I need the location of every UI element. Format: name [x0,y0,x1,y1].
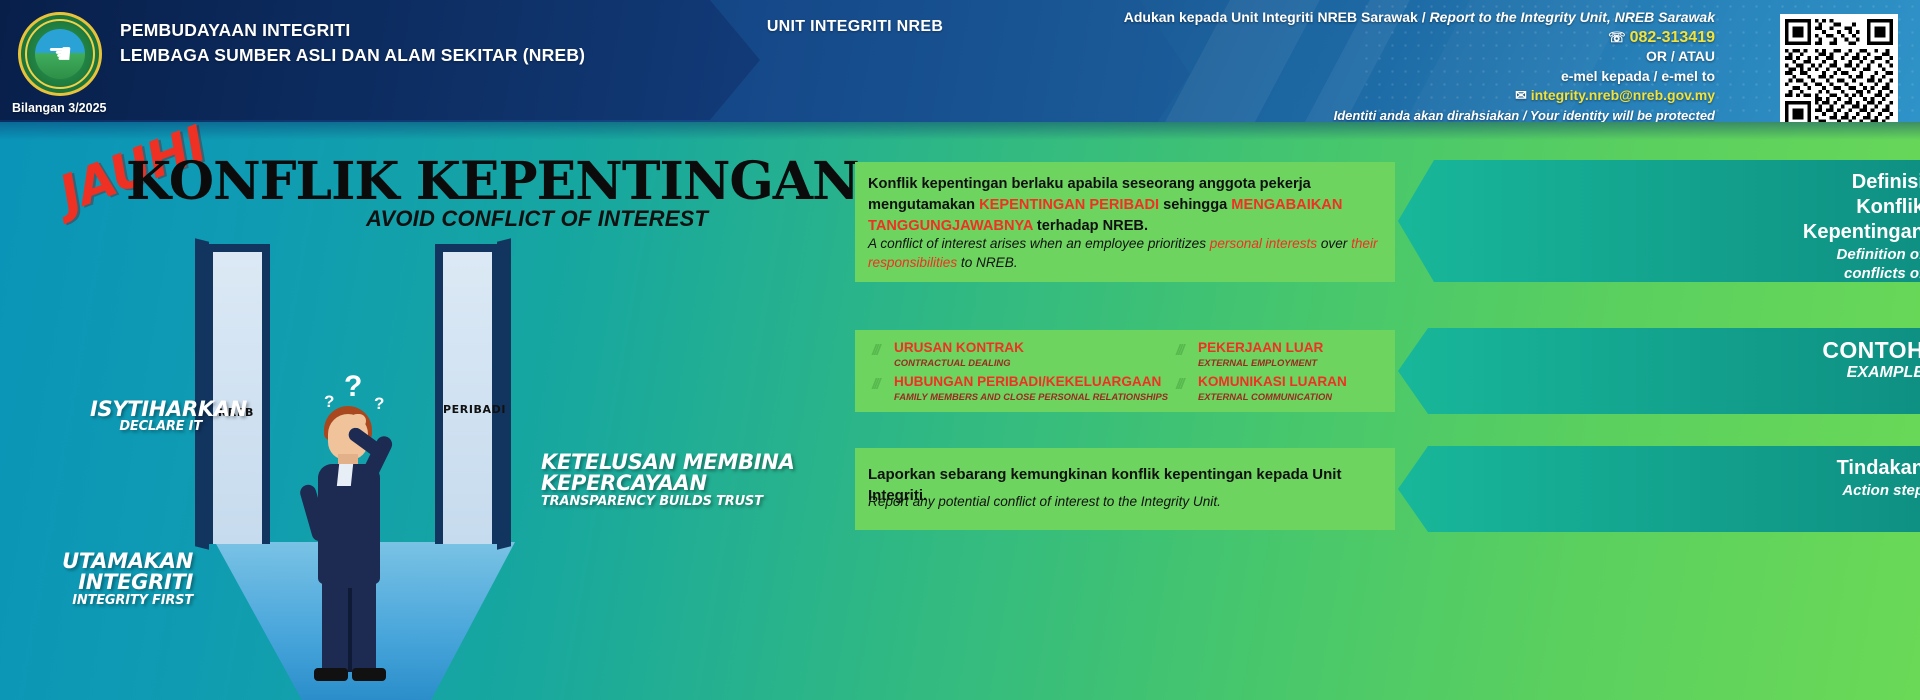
report-label-ms: Adukan kepada Unit Integriti NREB Sarawa… [1124,9,1418,25]
phone-line: ☏ 082-313419 [995,28,1715,48]
tab-definition-en-line2: conflicts of [1450,264,1920,283]
hand-leaf-icon: ☚ [47,40,72,68]
question-mark-large: ? [344,370,362,404]
tab-definition-en-line1: Definition of [1450,245,1920,264]
email-label: e-mel kepada / e-mel to [995,67,1715,87]
example-item-1-ms: URUSAN KONTRAK [894,340,1024,356]
quote-marks-icon: /// [872,342,879,359]
report-separator: / [1422,9,1426,25]
contact-block: Adukan kepada Unit Integriti NREB Sarawa… [995,8,1715,125]
nreb-logo: ☚ [18,12,102,96]
envelope-icon: ✉ [1515,87,1527,103]
caption-trust-en: TRANSPARENCY BUILDS TRUST [541,495,841,508]
logo-emblem: ☚ [35,29,85,79]
definition-body-en: A conflict of interest arises when an em… [868,234,1393,272]
caption-trust-ms-line2: KEPERCAYAAN [541,473,841,494]
tab-action: Tindakan Action step [1398,446,1920,532]
tab-example-en: EXAMPLE [1450,363,1920,382]
definition-ms-highlight1: KEPENTINGAN PERIBADI [979,197,1159,213]
caption-declare-en: DECLARE IT [90,420,202,433]
door-right-label: PERIBADI [443,403,506,416]
person-leg-divider [348,588,352,672]
tab-example-ms: CONTOH [1450,338,1920,363]
organisation-title-line2: LEMBAGA SUMBER ASLI DAN ALAM SEKITAR (NR… [120,43,585,68]
tab-definition-ms-line1: Definisi [1450,170,1920,195]
question-mark-small-left: ? [324,392,334,412]
tab-definition-ms-line2: Konflik [1450,195,1920,220]
qr-code-svg [1785,19,1893,127]
caption-integrity-en: INTEGRITY FIRST [28,594,193,607]
organisation-title-line1: PEMBUDAYAAN INTEGRITI [120,18,585,43]
quote-marks-icon: /// [1176,342,1183,359]
tab-definition: Definisi Konflik Kepentingan Definition … [1398,160,1920,282]
tab-action-en: Action step [1450,481,1920,500]
definition-en-part3: to NREB. [957,255,1017,270]
caption-trust: KETELUSAN MEMBINA KEPERCAYAAN TRANSPAREN… [541,452,841,508]
person-shirt-collar [337,464,353,486]
caption-trust-ms-line1: KETELUSAN MEMBINA [541,452,841,473]
report-line: Adukan kepada Unit Integriti NREB Sarawa… [995,8,1715,28]
person-left-shoe [314,668,348,681]
infographic-poster: ☚ PEMBUDAYAAN INTEGRITI LEMBAGA SUMBER A… [0,0,1920,700]
definition-en-part2: over [1317,236,1351,251]
example-item-1: /// URUSAN KONTRAK CONTRACTUAL DEALING [894,340,1024,369]
tab-example: CONTOH EXAMPLE [1398,328,1920,414]
report-label-en: Report to the Integrity Unit, NREB Saraw… [1430,9,1715,25]
caption-integrity-ms: UTAMAKAN INTEGRITI [28,551,193,594]
example-item-1-en: CONTRACTUAL DEALING [894,356,1024,369]
tab-definition-ms-line3: Kepentingan [1450,220,1920,245]
example-item-4-ms: KOMUNIKASI LUARAN [1198,374,1347,390]
definition-body-ms: Konflik kepentingan berlaku apabila sese… [868,174,1393,237]
quote-marks-icon: /// [1176,376,1183,393]
person-right-shoe [352,668,386,681]
or-label: OR / ATAU [995,47,1715,67]
example-item-3: /// PEKERJAAN LUAR EXTERNAL EMPLOYMENT [1198,340,1323,369]
caption-declare-ms: ISYTIHARKAN [90,399,202,420]
issue-number: Bilangan 3/2025 [12,101,107,115]
example-item-4: /// KOMUNIKASI LUARAN EXTERNAL COMMUNICA… [1198,374,1347,403]
phone-number[interactable]: 082-313419 [1630,29,1715,46]
question-mark-small-right: ? [374,394,384,414]
example-item-2-ms: HUBUNGAN PERIBADI/KEKELUARGAAN [894,374,1168,390]
door-right-panel [443,252,492,544]
action-body-en: Report any potential conflict of interes… [868,492,1388,511]
illustration: NREB PERIBADI ? ? ? ISYTIHARKAN DEC [0,122,860,700]
quote-marks-icon: /// [872,376,879,393]
qr-code[interactable] [1780,14,1898,132]
organisation-title: PEMBUDAYAAN INTEGRITI LEMBAGA SUMBER ASL… [120,18,585,68]
example-item-2: /// HUBUNGAN PERIBADI/KEKELUARGAAN FAMIL… [894,374,1168,403]
email-address[interactable]: integrity.nreb@nreb.gov.my [1531,87,1715,103]
caption-integrity: UTAMAKAN INTEGRITI INTEGRITY FIRST [28,551,193,607]
example-item-3-ms: PEKERJAAN LUAR [1198,340,1323,356]
person-illustration: ? ? ? [300,392,420,682]
tab-action-ms: Tindakan [1450,456,1920,481]
example-items-grid: /// URUSAN KONTRAK CONTRACTUAL DEALING /… [868,338,1388,406]
person-right-hand [350,414,366,428]
door-right [435,244,500,544]
example-item-2-en: FAMILY MEMBERS AND CLOSE PERSONAL RELATI… [894,390,1168,403]
door-left [205,244,270,544]
email-line: ✉ integrity.nreb@nreb.gov.my [995,86,1715,106]
definition-ms-part3: terhadap NREB. [1033,218,1148,234]
example-item-3-en: EXTERNAL EMPLOYMENT [1198,356,1323,369]
example-item-4-en: EXTERNAL COMMUNICATION [1198,390,1347,403]
phone-icon: ☏ [1608,29,1626,45]
definition-en-highlight1: personal interests [1210,236,1317,251]
caption-declare: ISYTIHARKAN DECLARE IT [90,399,202,434]
definition-ms-part2: sehingga [1159,197,1231,213]
definition-en-part1: A conflict of interest arises when an em… [868,236,1210,251]
